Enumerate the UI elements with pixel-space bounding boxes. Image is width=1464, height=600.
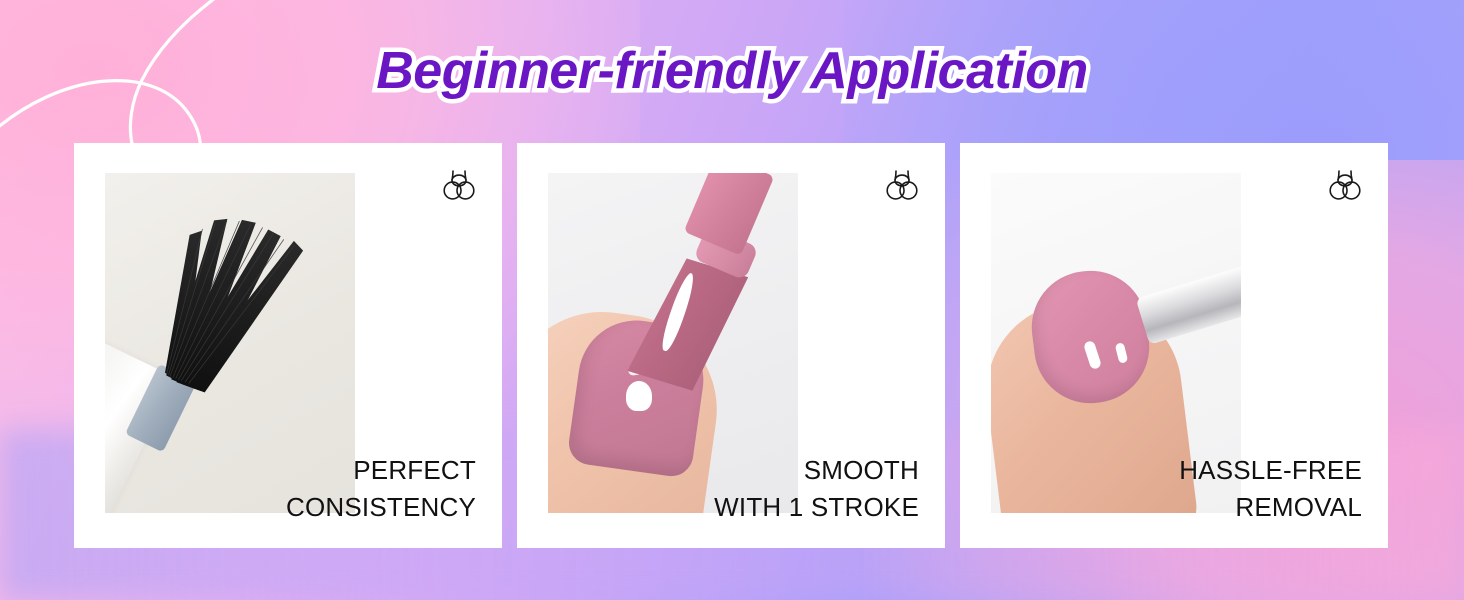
promo-banner: Beginner-friendly Application	[0, 0, 1464, 600]
card-caption-line1: HASSLE-FREE	[1179, 455, 1362, 485]
card-caption: HASSLE-FREE REMOVAL	[1179, 452, 1362, 526]
page-title: Beginner-friendly Application	[376, 44, 1088, 99]
card-caption: PERFECT CONSISTENCY	[286, 452, 476, 526]
butterfly-logo-icon	[442, 167, 476, 203]
feature-card[interactable]: SMOOTH WITH 1 STROKE	[517, 143, 945, 548]
title-container: Beginner-friendly Application	[0, 44, 1464, 99]
card-caption-line1: PERFECT	[353, 455, 476, 485]
card-caption-line2: WITH 1 STROKE	[714, 489, 919, 526]
feature-card[interactable]: HASSLE-FREE REMOVAL	[960, 143, 1388, 548]
nail-gloss-dot	[626, 381, 652, 411]
butterfly-logo-icon	[885, 167, 919, 203]
card-caption: SMOOTH WITH 1 STROKE	[714, 452, 919, 526]
card-caption-line2: CONSISTENCY	[286, 489, 476, 526]
butterfly-logo-icon	[1328, 167, 1362, 203]
feature-card-list: PERFECT CONSISTENCY	[74, 143, 1388, 548]
card-caption-line2: REMOVAL	[1179, 489, 1362, 526]
feature-card[interactable]: PERFECT CONSISTENCY	[74, 143, 502, 548]
card-caption-line1: SMOOTH	[804, 455, 919, 485]
